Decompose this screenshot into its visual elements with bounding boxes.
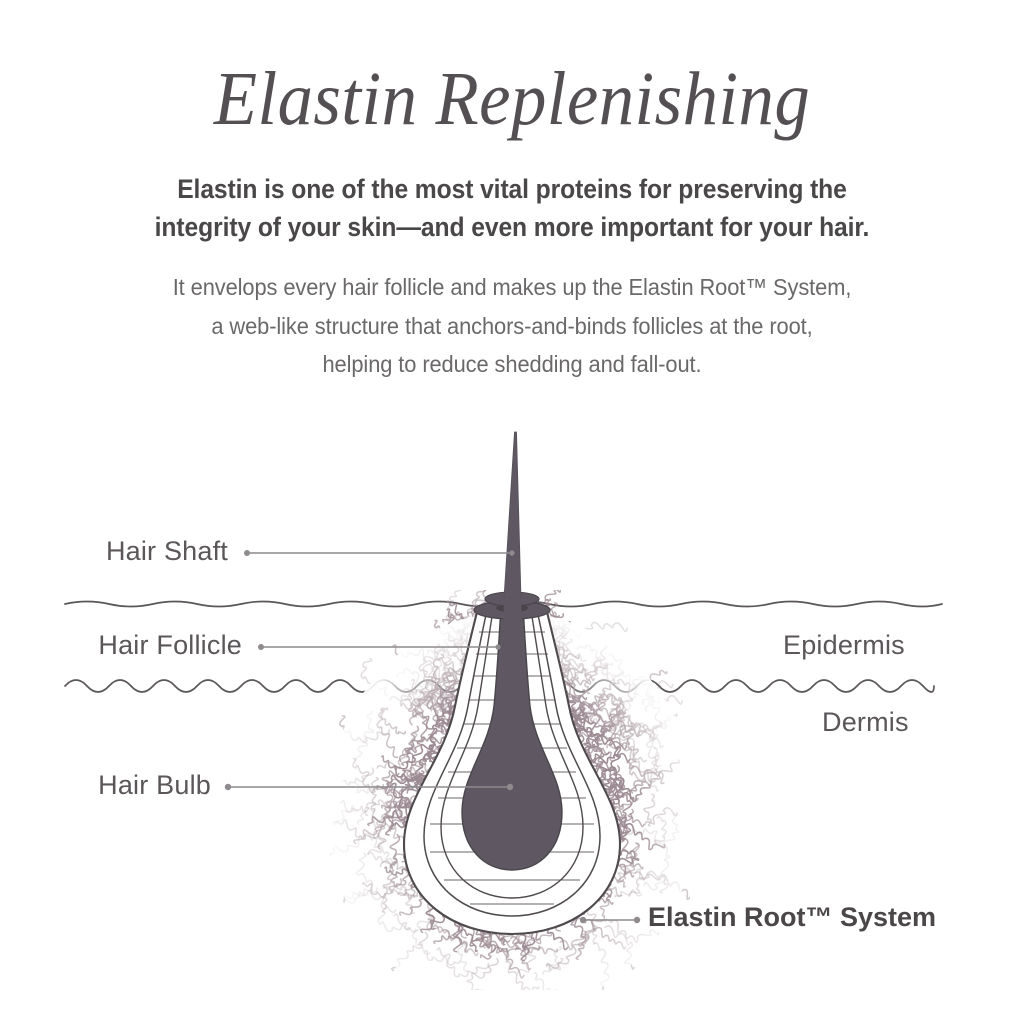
label-hair-shaft: Hair Shaft [106, 536, 228, 567]
elastin-fiber [344, 768, 374, 784]
elastin-fiber [320, 842, 358, 860]
elastin-fiber [635, 872, 698, 900]
elastin-fiber [467, 959, 498, 993]
leader-dot-hair-follicle [258, 644, 264, 650]
label-hair-bulb: Hair Bulb [98, 770, 211, 801]
leader-dot-hair-bulb-end [507, 784, 513, 790]
elastin-fiber [543, 947, 562, 975]
elastin-fiber [378, 912, 410, 932]
label-hair-follicle: Hair Follicle [98, 630, 242, 661]
leader-dot-hair-bulb [225, 784, 231, 790]
leader-dot-elastin-root-end [634, 917, 640, 923]
elastin-fiber [655, 817, 666, 843]
elastin-fiber [371, 778, 378, 819]
elastin-fiber [377, 734, 417, 769]
elastin-fiber [591, 943, 609, 994]
poster-root: Elastin Replenishing Elastin is one of t… [0, 0, 1024, 1024]
follicle-diagram [0, 0, 1024, 1024]
elastin-fiber [367, 852, 393, 871]
elastin-fiber [393, 645, 432, 682]
elastin-fiber [392, 932, 428, 970]
elastin-fiber [361, 659, 387, 695]
leader-dot-hair-shaft [244, 550, 250, 556]
hair-shaft-inner [501, 598, 524, 700]
label-elastin-root-system: Elastin Root™ System [648, 902, 936, 933]
hair-shaft [504, 432, 521, 598]
leader-dot-elastin-root [580, 917, 586, 923]
elastin-fiber [534, 973, 567, 1016]
label-epidermis: Epidermis [783, 630, 905, 661]
elastin-fiber [610, 653, 624, 683]
leader-dot-hair-follicle-end [495, 644, 500, 649]
label-dermis: Dermis [822, 707, 909, 738]
elastin-fiber [381, 710, 406, 734]
elastin-fiber [560, 929, 595, 950]
elastin-fiber [627, 760, 679, 795]
leader-dot-hair-shaft-end [509, 550, 514, 555]
